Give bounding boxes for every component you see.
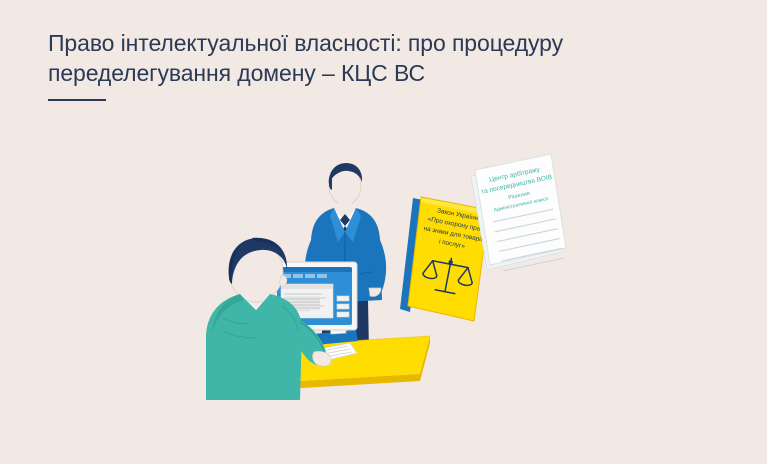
page-root: Закон України «Про охорону прав на знаки… [0,0,767,464]
page-title: Право інтелектуальної власності: про про… [48,28,738,88]
page-header: Право інтелектуальної власності: про про… [48,28,738,101]
wipo-decision-document: Центр арбітражу та посередництва ВОІВ Рі… [471,154,570,272]
title-underline-rule [48,99,106,101]
law-book: Закон України «Про охорону прав на знаки… [400,196,489,321]
